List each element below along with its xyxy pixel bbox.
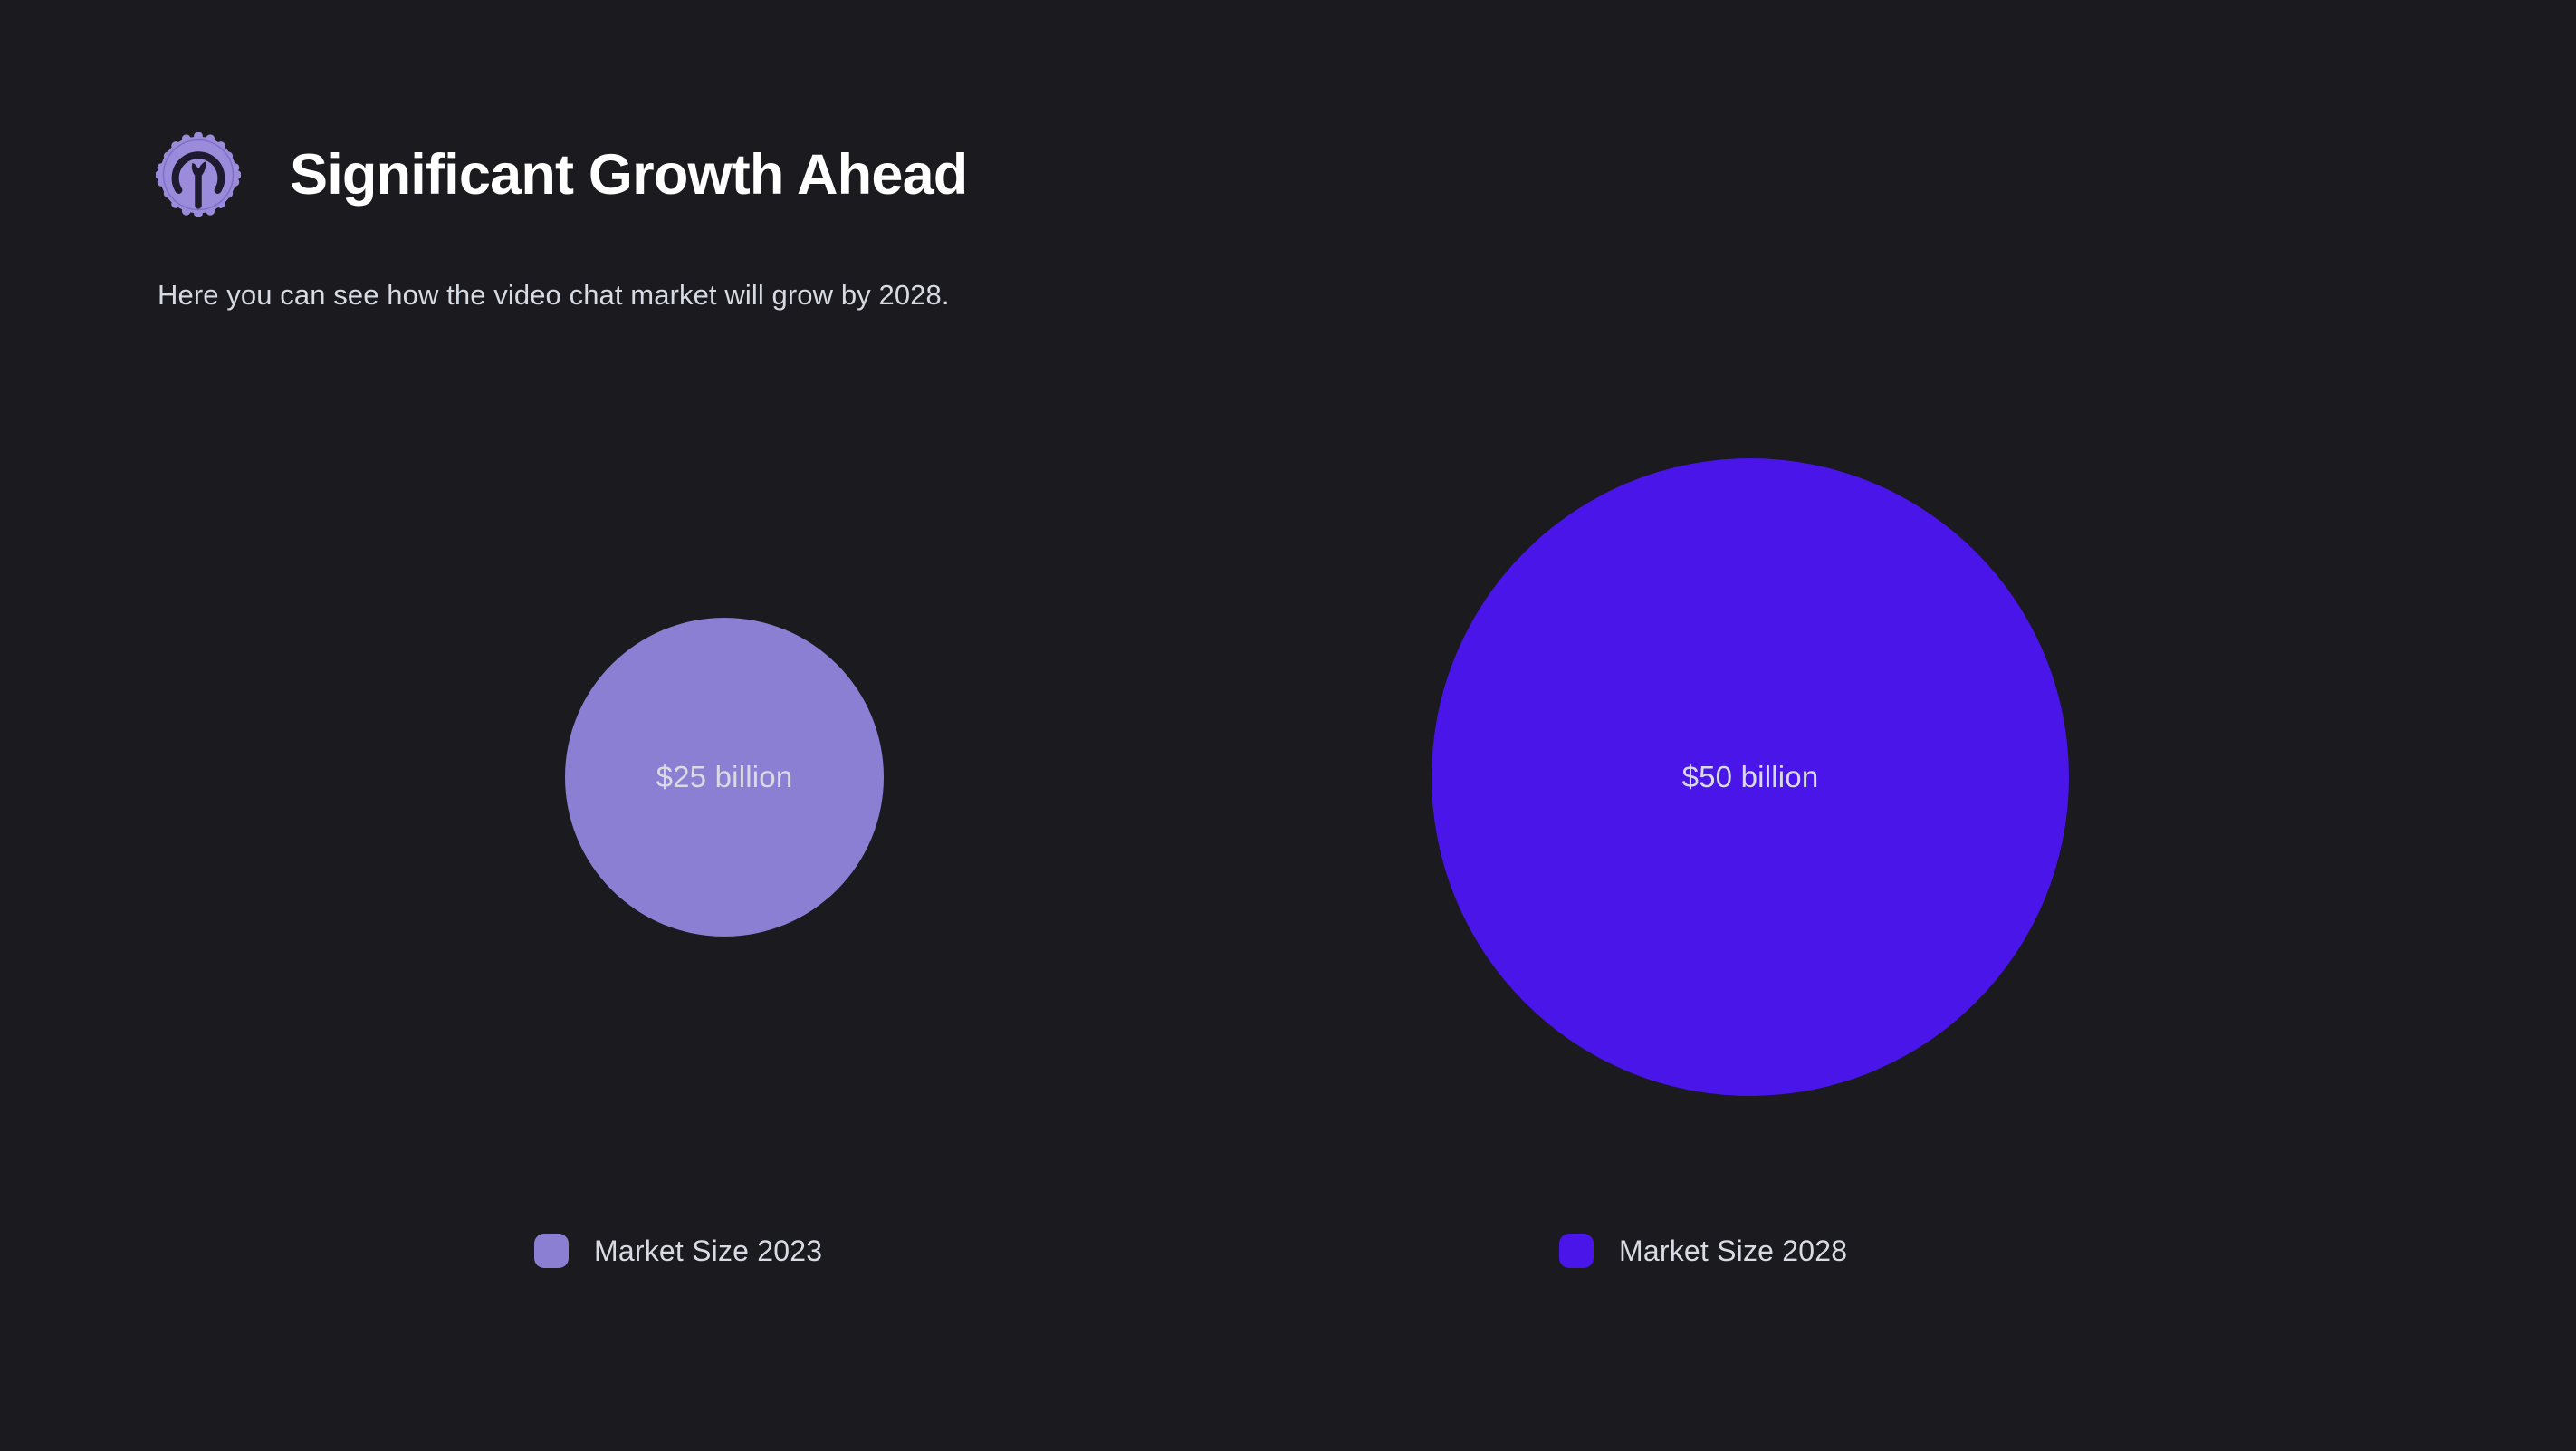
legend-item-market-size-2023[interactable]: Market Size 2023 <box>534 1233 822 1269</box>
legend-item-label: Market Size 2028 <box>1619 1235 1847 1268</box>
legend-swatch-icon <box>534 1234 569 1268</box>
bubble-market-size-2028[interactable]: $50 billion <box>1432 458 2069 1096</box>
legend-swatch-icon <box>1559 1234 1594 1268</box>
legend-item-market-size-2028[interactable]: Market Size 2028 <box>1559 1233 1847 1269</box>
legend-item-label: Market Size 2023 <box>594 1235 822 1268</box>
bubble-value-label: $50 billion <box>1682 760 1819 794</box>
bubble-market-size-2023[interactable]: $25 billion <box>565 618 884 937</box>
slide-canvas: Significant Growth Ahead Here you can se… <box>0 0 2576 1451</box>
bubble-chart: $25 billion $50 billion Market Size 2023… <box>0 0 2576 1451</box>
bubble-value-label: $25 billion <box>656 760 793 794</box>
